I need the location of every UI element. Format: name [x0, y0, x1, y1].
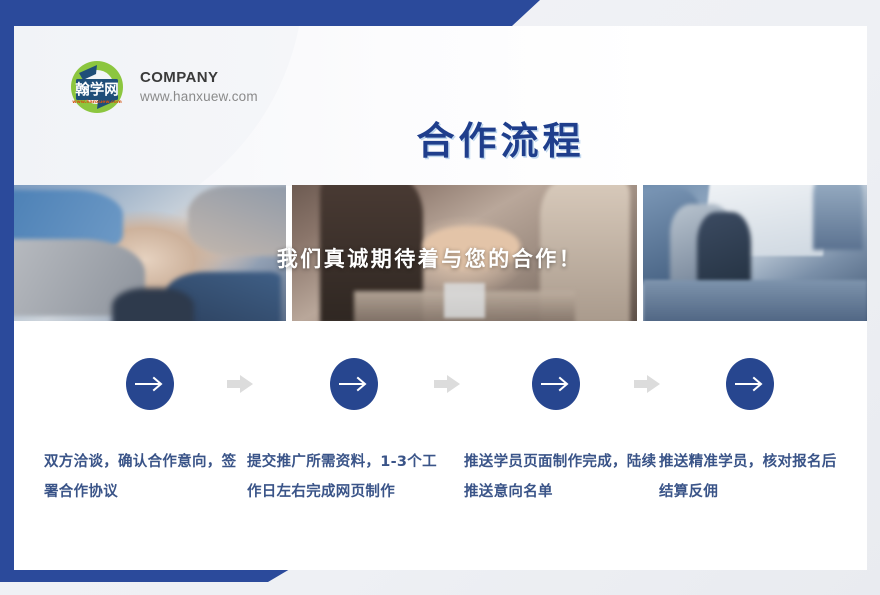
step-circle-4[interactable] [726, 358, 774, 410]
step-circle-2[interactable] [330, 358, 378, 410]
arrow-right-icon [541, 376, 571, 392]
svg-text:翰学网: 翰学网 [75, 81, 119, 99]
step-circle-1[interactable] [126, 358, 174, 410]
step-connector-3 [634, 375, 660, 393]
page-title: 合作流程 [14, 110, 867, 165]
brand-url: www.hanxuew.com [140, 89, 258, 104]
arrow-right-icon [339, 376, 369, 392]
photo-band-caption: 我们真诚期待着与您的合作！ [14, 243, 867, 273]
step-text-4: 推送精准学员，核对报名后结算反佣 [659, 448, 839, 507]
brand-name: COMPANY [140, 70, 258, 87]
arrow-right-connector-icon [227, 375, 253, 393]
brand-block: 翰学网 www.hanxuew.com COMPANY www.hanxuew.… [66, 56, 258, 118]
step-connector-1 [227, 375, 253, 393]
step-connector-2 [434, 375, 460, 393]
arrow-right-connector-icon [634, 375, 660, 393]
content-card: 翰学网 www.hanxuew.com COMPANY www.hanxuew.… [14, 26, 867, 570]
arrow-right-icon [135, 376, 165, 392]
step-text-1: 双方洽谈，确认合作意向，签署合作协议 [44, 448, 244, 507]
step-text-3: 推送学员页面制作完成，陆续推送意向名单 [464, 448, 664, 507]
frame-bottom-bar [0, 569, 290, 582]
step-text-2: 提交推广所需资料，1-3个工作日左右完成网页制作 [247, 448, 447, 507]
step-arrow-row [14, 344, 867, 424]
brand-text-block: COMPANY www.hanxuew.com [140, 70, 258, 105]
arrow-right-connector-icon [434, 375, 460, 393]
arrow-right-icon [735, 376, 765, 392]
hanxue-circular-logo-icon: 翰学网 www.hanxuew.com [66, 56, 128, 118]
slide-root: 翰学网 www.hanxuew.com COMPANY www.hanxuew.… [0, 0, 880, 595]
photo-band: 我们真诚期待着与您的合作！ [14, 185, 867, 321]
frame-top-bar [0, 0, 540, 26]
process-steps: 双方洽谈，确认合作意向，签署合作协议 提交推广所需资料，1-3个工作日左右完成网… [14, 344, 867, 544]
step-circle-3[interactable] [532, 358, 580, 410]
frame-left-bar [0, 0, 14, 582]
svg-text:www.hanxuew.com: www.hanxuew.com [72, 99, 122, 105]
